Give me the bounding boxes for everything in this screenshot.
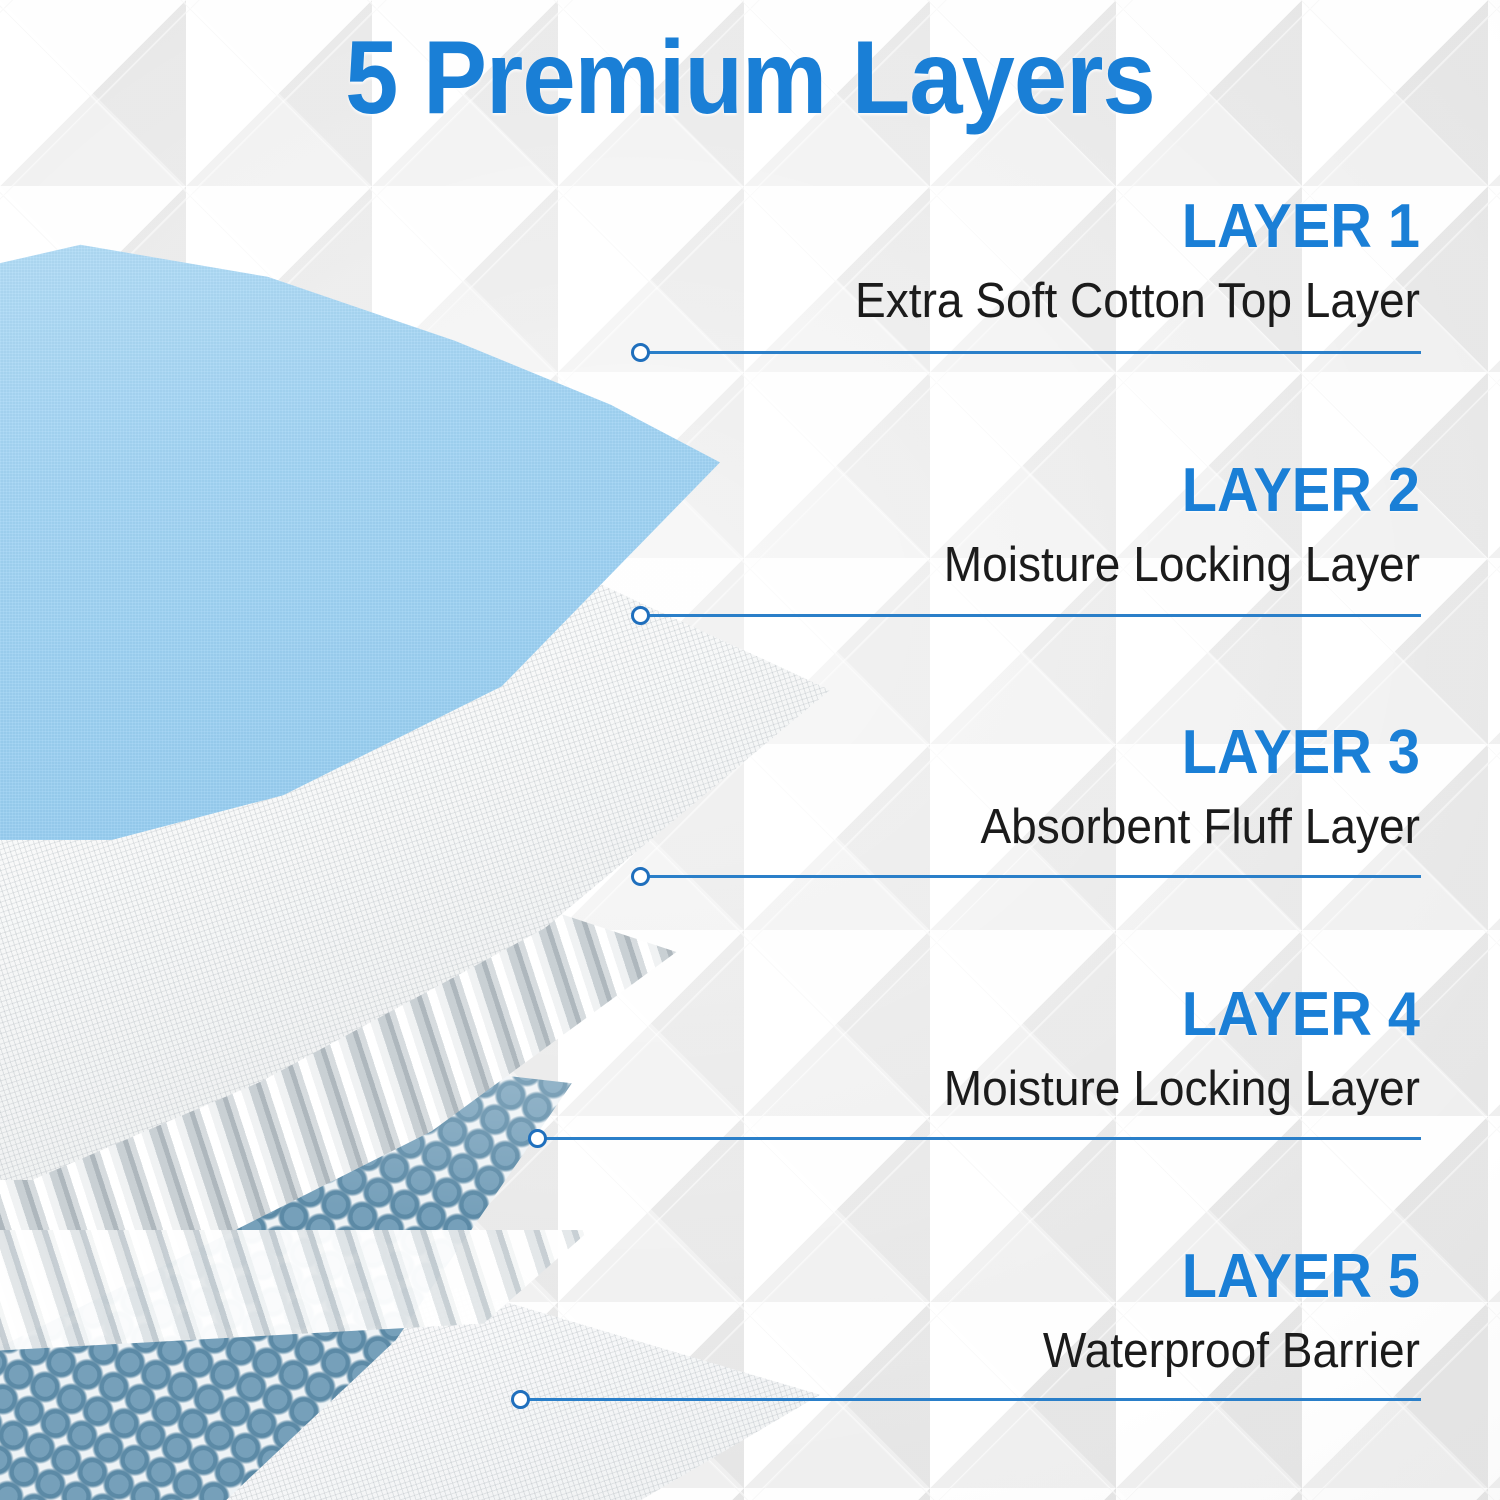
layer-3-title: LAYER 3 — [620, 722, 1420, 784]
layer-1-marker-dot — [631, 343, 650, 362]
layer-2-marker-dot — [631, 606, 650, 625]
layer-4-marker-dot — [528, 1129, 547, 1148]
layer-callout-5: LAYER 5 Waterproof Barrier — [560, 1246, 1420, 1377]
layer-1-description: Extra Soft Cotton Top Layer — [612, 276, 1420, 327]
infographic-canvas: 5 Premium Layers LAYER 1 Extra Soft Cott… — [0, 0, 1500, 1500]
layer-5-title: LAYER 5 — [620, 1246, 1420, 1308]
layer-2-rule — [646, 614, 1421, 617]
layer-4-rule — [543, 1137, 1421, 1140]
layer-5-marker-dot — [511, 1390, 530, 1409]
layer-4-title: LAYER 4 — [620, 984, 1420, 1046]
layer-3-description: Absorbent Fluff Layer — [612, 802, 1420, 853]
layer-1-rule — [646, 351, 1421, 354]
layer-5-rule — [526, 1398, 1421, 1401]
layer-3-rule — [646, 875, 1421, 878]
layer-4-description: Moisture Locking Layer — [612, 1064, 1420, 1115]
layer-callout-2: LAYER 2 Moisture Locking Layer — [560, 460, 1420, 591]
page-title: 5 Premium Layers — [60, 26, 1440, 130]
layer-1-title: LAYER 1 — [620, 196, 1420, 258]
layer-2-title: LAYER 2 — [620, 460, 1420, 522]
layer-callout-4: LAYER 4 Moisture Locking Layer — [560, 984, 1420, 1115]
layer-2-description: Moisture Locking Layer — [612, 540, 1420, 591]
layer-callout-1: LAYER 1 Extra Soft Cotton Top Layer — [560, 196, 1420, 327]
layer-3-marker-dot — [631, 867, 650, 886]
layer-callout-3: LAYER 3 Absorbent Fluff Layer — [560, 722, 1420, 853]
layer-5-description: Waterproof Barrier — [612, 1326, 1420, 1377]
